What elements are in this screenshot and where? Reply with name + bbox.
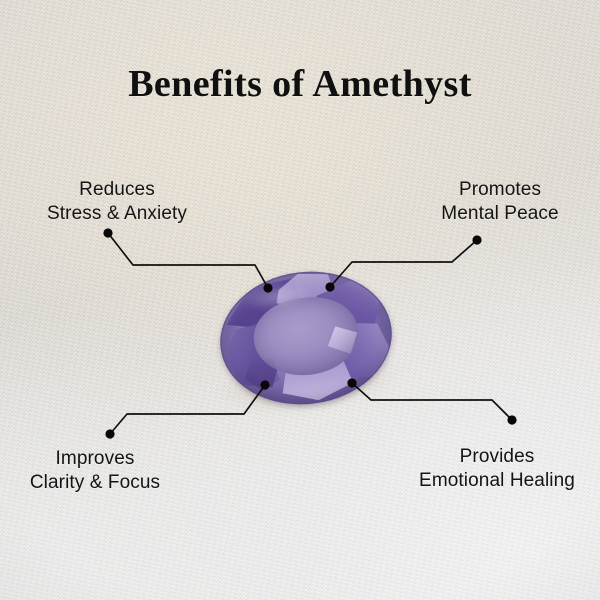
- page-title: Benefits of Amethyst: [0, 62, 600, 106]
- gemstone-body: [213, 262, 400, 414]
- callout-line-1: Provides: [419, 445, 575, 469]
- callout-line-1: Improves: [30, 447, 160, 471]
- callout-line-2: Stress & Anxiety: [47, 202, 187, 226]
- gem-girdle-rim: [213, 262, 400, 414]
- callout-line-1: Promotes: [441, 178, 558, 202]
- infographic-canvas: Benefits of Amethyst Reduces Stress & An…: [0, 0, 600, 600]
- callout-label-reduces-stress: Reduces Stress & Anxiety: [47, 178, 187, 227]
- callout-line-2: Clarity & Focus: [30, 471, 160, 495]
- amethyst-gemstone: [213, 262, 400, 414]
- callout-label-improves-clarity: Improves Clarity & Focus: [30, 447, 160, 496]
- callout-line-1: Reduces: [47, 178, 187, 202]
- callout-label-provides-emotional-healing: Provides Emotional Healing: [419, 445, 575, 494]
- callout-line-2: Emotional Healing: [419, 469, 575, 493]
- callout-line-2: Mental Peace: [441, 202, 558, 226]
- callout-label-promotes-mental-peace: Promotes Mental Peace: [441, 178, 558, 227]
